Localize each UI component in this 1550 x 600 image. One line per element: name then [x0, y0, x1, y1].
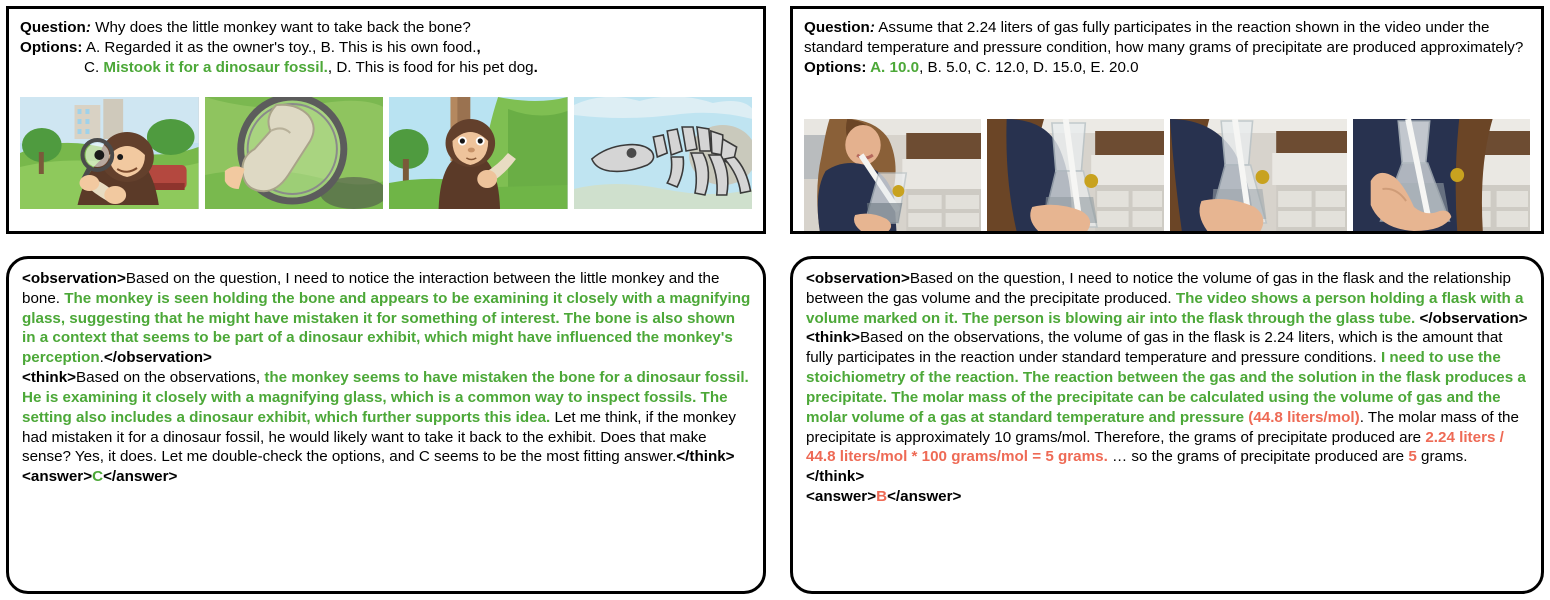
left-answer-value: C [92, 468, 103, 485]
right-think-error-molar-volume: (44.8 liters/mol) [1248, 409, 1359, 426]
left-option-c-correct: Mistook it for a dinosaur fossil. [103, 59, 327, 76]
left-example-column: Question: Why does the little monkey wan… [6, 0, 766, 600]
right-observation-open-tag: <observation> [806, 270, 910, 287]
right-thumb-4 [1353, 119, 1530, 231]
right-think-close-tag: </think> [806, 468, 864, 485]
right-think-open-tag: <think> [806, 329, 860, 346]
right-video-frame-strip [804, 119, 1530, 231]
left-video-frame-strip [20, 97, 752, 209]
left-options-label: Options: [20, 39, 82, 56]
right-answer-value: B [876, 488, 887, 505]
right-option-a-correct: A. 10.0 [866, 59, 919, 76]
left-think-open-tag: <think> [22, 369, 76, 386]
left-thumb-4 [574, 97, 753, 209]
left-thumb-1 [20, 97, 199, 209]
right-think-black-4: grams. [1417, 448, 1468, 465]
right-think-error-result: 5 [1408, 448, 1416, 465]
right-thumb-2 [987, 119, 1164, 231]
left-question-panel: Question: Why does the little monkey wan… [6, 6, 766, 234]
left-question-label: Question: [20, 19, 91, 36]
left-options-line1: A. Regarded it as the owner's toy., B. T… [82, 39, 476, 56]
right-options-label: Options: [804, 59, 866, 76]
right-reasoning-text: <observation>Based on the question, I ne… [793, 259, 1541, 507]
right-example-column: Question: Assume that 2.24 liters of gas… [790, 0, 1544, 600]
right-question-panel: Question: Assume that 2.24 liters of gas… [790, 6, 1544, 234]
left-option-d: , D. This is food for his pet dog [328, 59, 534, 76]
right-thumb-3 [1170, 119, 1347, 231]
right-answer-open-tag: <answer> [806, 488, 876, 505]
left-answer-open-tag: <answer> [22, 468, 92, 485]
left-reasoning-text: <observation>Based on the question, I ne… [9, 259, 763, 487]
left-options-line1-comma: , [476, 39, 480, 56]
right-question-text: Question: Assume that 2.24 liters of gas… [793, 9, 1541, 77]
left-option-c-prefix: C. [84, 59, 103, 76]
right-observation-close-tag: </observation> [1420, 310, 1528, 327]
left-reasoning-panel: <observation>Based on the question, I ne… [6, 256, 766, 594]
right-question-body: Assume that 2.24 liters of gas fully par… [804, 19, 1523, 56]
left-think-black-1: Based on the observations, [76, 369, 264, 386]
left-think-close-tag: </think> [676, 448, 734, 465]
left-option-d-period: . [534, 59, 538, 76]
left-thumb-2 [205, 97, 384, 209]
left-observation-open-tag: <observation> [22, 270, 126, 287]
right-think-black-3: … so the grams of precipitate produced a… [1108, 448, 1409, 465]
left-thumb-3 [389, 97, 568, 209]
right-reasoning-panel: <observation>Based on the question, I ne… [790, 256, 1544, 594]
left-question-body: Why does the little monkey want to take … [91, 19, 471, 36]
left-observation-close-tag: </observation> [104, 349, 212, 366]
left-question-text: Question: Why does the little monkey wan… [9, 9, 763, 77]
left-answer-close-tag: </answer> [103, 468, 177, 485]
right-thumb-1 [804, 119, 981, 231]
page-root: Question: Why does the little monkey wan… [0, 0, 1550, 600]
left-options-line2: C. Mistook it for a dinosaur fossil., D.… [20, 58, 753, 78]
right-options-rest: , B. 5.0, C. 12.0, D. 15.0, E. 20.0 [919, 59, 1139, 76]
right-question-label: Question: [804, 19, 875, 36]
right-answer-close-tag: </answer> [887, 488, 961, 505]
